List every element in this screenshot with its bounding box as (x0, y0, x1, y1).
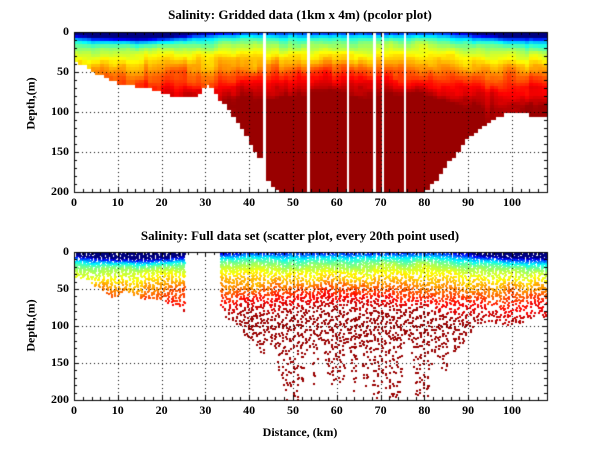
x-tick-label: 70 (361, 403, 401, 418)
x-tick-label: 90 (448, 403, 488, 418)
y-tick-label: 150 (29, 355, 69, 370)
x-tick-label: 20 (142, 195, 182, 210)
x-tick-label: 40 (229, 403, 269, 418)
x-tick-label: 100 (492, 403, 532, 418)
x-tick-label: 80 (404, 403, 444, 418)
y-tick-label: 200 (29, 392, 69, 407)
x-tick-label: 90 (448, 195, 488, 210)
y-tick-label: 0 (29, 244, 69, 259)
y-tick-label: 150 (29, 144, 69, 159)
x-tick-label: 20 (142, 403, 182, 418)
x-tick-label: 10 (98, 403, 138, 418)
salinity-section-figure (0, 0, 600, 451)
x-tick-label: 30 (185, 403, 225, 418)
bottom-panel-x-axis-label: Distance, (km) (0, 425, 600, 440)
x-tick-label: 50 (273, 403, 313, 418)
x-tick-label: 30 (185, 195, 225, 210)
y-tick-label: 200 (29, 184, 69, 199)
x-tick-label: 60 (317, 195, 357, 210)
x-tick-label: 10 (98, 195, 138, 210)
x-tick-label: 50 (273, 195, 313, 210)
y-tick-label: 100 (29, 104, 69, 119)
top-panel-title: Salinity: Gridded data (1km x 4m) (pcolo… (0, 7, 600, 23)
x-tick-label: 100 (492, 195, 532, 210)
bottom-panel-title: Salinity: Full data set (scatter plot, e… (0, 228, 600, 244)
x-tick-label: 40 (229, 195, 269, 210)
x-tick-label: 70 (361, 195, 401, 210)
x-tick-label: 80 (404, 195, 444, 210)
y-tick-label: 100 (29, 318, 69, 333)
y-tick-label: 50 (29, 64, 69, 79)
y-tick-label: 50 (29, 281, 69, 296)
y-tick-label: 0 (29, 24, 69, 39)
x-tick-label: 60 (317, 403, 357, 418)
